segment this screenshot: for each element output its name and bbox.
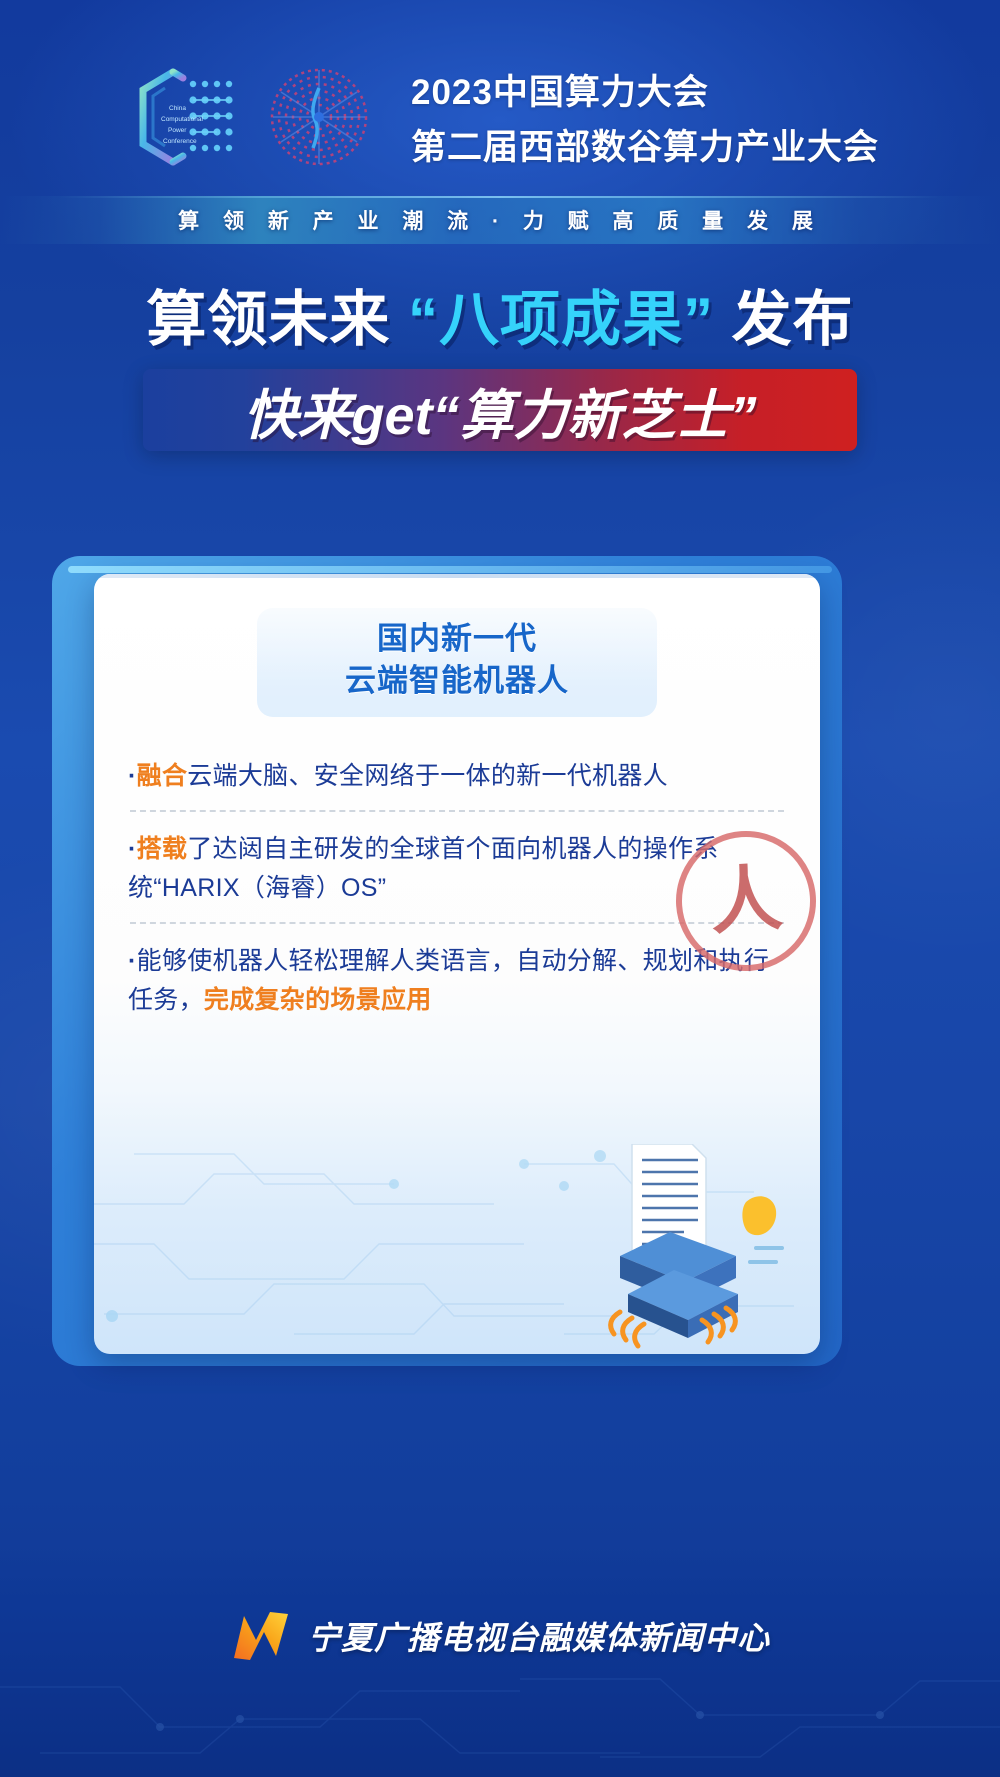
- ningxia-n-logo: [230, 1610, 292, 1662]
- card-top-divider: [94, 574, 820, 578]
- bullet-marker: ·: [128, 947, 137, 975]
- card-illustration: [94, 1134, 820, 1354]
- conference-title-line2: 第二届西部数谷算力产业大会: [411, 119, 879, 170]
- data-valley-orb-logo: [259, 58, 379, 176]
- bullet-highlight: 融合: [137, 762, 188, 790]
- footer-wave-decoration-icon: [0, 1657, 1000, 1777]
- list-item: ·搭载了达闼自主研发的全球首个面向机器人的操作系统“HARIX（海睿）OS”: [128, 812, 786, 922]
- bullet-highlight: 搭载: [137, 835, 188, 863]
- slogan-bar: 算 领 新 产 业 潮 流 · 力 赋 高 质 量 发 展: [0, 196, 1000, 244]
- bullet-text: 了达闼自主研发的全球首个面向机器人的操作系统“HARIX（海睿）OS”: [128, 835, 719, 902]
- card-title-badge: 国内新一代 云端智能机器人: [257, 608, 657, 717]
- list-item: ·能够使机器人轻松理解人类语言，自动分解、规划和执行任务，完成复杂的场景应用: [128, 924, 786, 1034]
- main-title-part1: 算领未来: [146, 286, 390, 353]
- main-title-line1: 算领未来 “八项成果” 发布: [0, 286, 1000, 353]
- main-title-band: 快来get“算力新芝士”: [143, 369, 857, 451]
- main-title-part2: 发布: [732, 286, 854, 353]
- bullet-marker: ·: [128, 762, 137, 790]
- svg-text:Conference: Conference: [163, 138, 197, 145]
- svg-text:China: China: [169, 105, 186, 112]
- footer-text: 宁夏广播电视台融媒体新闻中心: [308, 1613, 770, 1659]
- main-title-line2: 快来get“算力新芝士”: [244, 371, 757, 450]
- main-title-highlight: “八项成果”: [408, 286, 714, 353]
- poster-page: China Computational Power Conference: [0, 0, 1000, 1777]
- card-bullet-list: ·融合云端大脑、安全网络于一体的新一代机器人 ·搭载了达闼自主研发的全球首个面向…: [94, 739, 820, 1034]
- slogan-text: 算 领 新 产 业 潮 流 · 力 赋 高 质 量 发 展: [178, 205, 822, 235]
- card-title-line1: 国内新一代: [257, 618, 657, 660]
- bullet-highlight-tail: 完成复杂的场景应用: [204, 986, 432, 1014]
- result-card: 国内新一代 云端智能机器人 ·融合云端大脑、安全网络于一体的新一代机器人 ·搭载…: [94, 574, 820, 1354]
- conference-title-line1: 2023中国算力大会: [411, 64, 879, 115]
- footer: 宁夏广播电视台融媒体新闻中心: [0, 1547, 1000, 1777]
- header: China Computational Power Conference: [0, 0, 1000, 200]
- server-document-icon: [524, 1144, 784, 1354]
- result-card-frame: 国内新一代 云端智能机器人 ·融合云端大脑、安全网络于一体的新一代机器人 ·搭载…: [52, 556, 842, 1366]
- list-item: ·融合云端大脑、安全网络于一体的新一代机器人: [128, 739, 786, 810]
- bullet-marker: ·: [128, 835, 137, 863]
- bullet-text: 云端大脑、安全网络于一体的新一代机器人: [187, 762, 668, 790]
- svg-text:Computational: Computational: [161, 116, 203, 123]
- card-title-line2: 云端智能机器人: [257, 660, 657, 702]
- main-title: 算领未来 “八项成果” 发布 快来get“算力新芝士”: [0, 286, 1000, 451]
- china-computational-power-conference-logo: China Computational Power Conference: [121, 58, 241, 176]
- conference-title: 2023中国算力大会 第二届西部数谷算力产业大会: [411, 64, 879, 170]
- svg-text:Power: Power: [168, 127, 187, 134]
